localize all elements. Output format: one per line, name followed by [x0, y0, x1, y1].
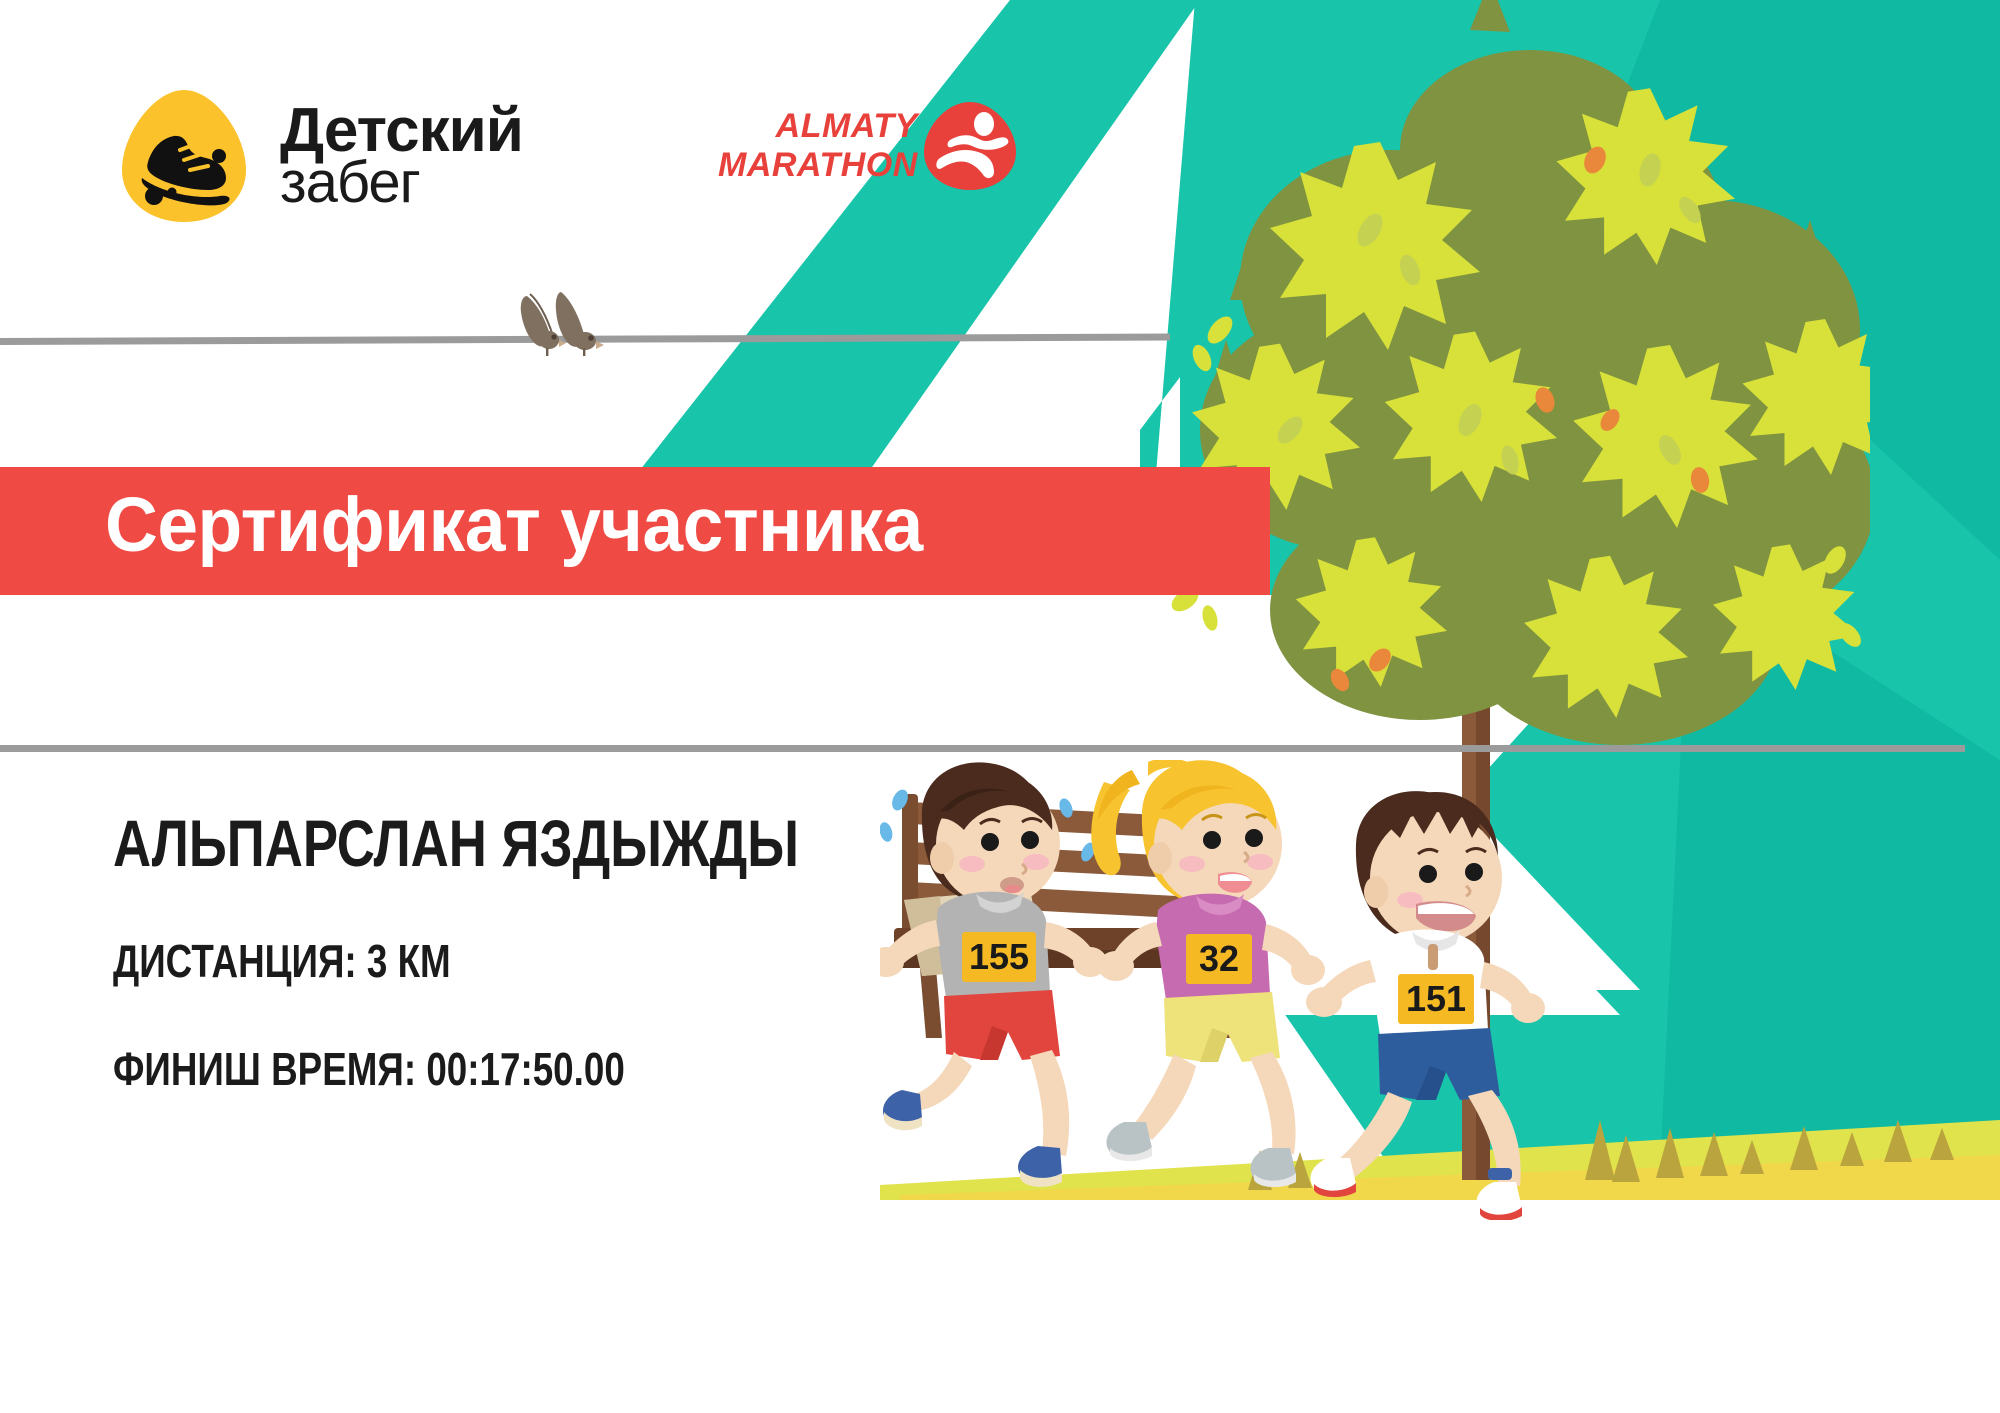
birds-on-wire-icon: [515, 288, 645, 358]
kids-logo-line2: забег: [280, 158, 523, 208]
runner-3-151: 151: [1306, 791, 1545, 1220]
participant-distance: ДИСТАНЦИЯ: 3 КМ: [113, 938, 799, 984]
runner-icon: [922, 100, 1018, 192]
almaty-logo-line1: ALMATY: [718, 107, 918, 146]
bib-number-155: 155: [969, 936, 1029, 977]
participant-info: АЛЬПАРСЛАН ЯЗДЫЖДЫ ДИСТАНЦИЯ: 3 КМ ФИНИШ…: [113, 810, 970, 1092]
page-title: Сертификат участника: [105, 481, 923, 570]
sneaker-icon: [118, 86, 250, 226]
participant-name: АЛЬПАРСЛАН ЯЗДЫЖДЫ: [113, 810, 799, 876]
participant-finish-time: ФИНИШ ВРЕМЯ: 00:17:50.00: [113, 1046, 799, 1092]
almaty-marathon-logo: ALMATY MARATHON: [718, 100, 1018, 192]
certificate-root: Детский забег ALMATY MARATHON Сертификат…: [0, 0, 2000, 1413]
bib-number-32: 32: [1199, 938, 1239, 979]
kids-run-logo: Детский забег: [118, 86, 523, 226]
runners-illustration: 155: [880, 760, 1640, 1220]
sponsor-strip: YAM-E-E-E! YAMEEE.KZ kididslab Shymbulak: [0, 1240, 2000, 1360]
almaty-logo-line2: MARATHON: [718, 146, 918, 185]
bib-number-151: 151: [1406, 978, 1466, 1019]
divider-line-middle: [0, 745, 1965, 752]
